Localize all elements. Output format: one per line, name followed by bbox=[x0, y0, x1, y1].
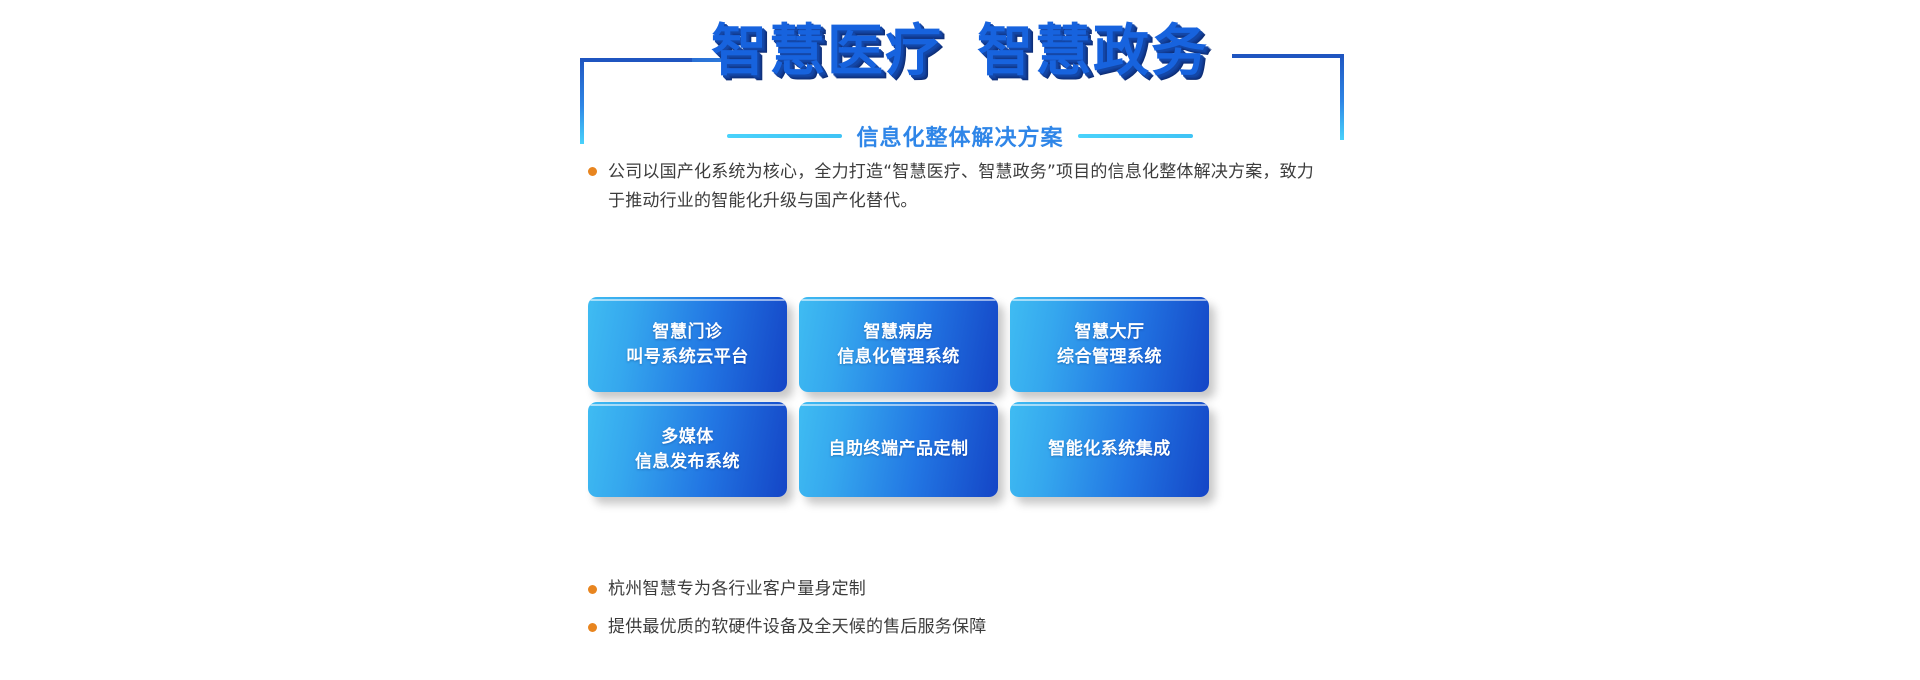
solution-card-grid: 智慧门诊 叫号系统云平台 智慧病房 信息化管理系统 智慧大厅 综合管理系统 多媒… bbox=[588, 297, 1208, 497]
solution-card[interactable]: 智慧大厅 综合管理系统 bbox=[1010, 297, 1209, 392]
solution-card-label: 智能化系统集成 bbox=[1042, 437, 1177, 462]
solution-card-label: 多媒体 信息发布系统 bbox=[629, 425, 746, 475]
subtitle-rule-right bbox=[1078, 134, 1193, 138]
solution-card-label: 智慧门诊 叫号系统云平台 bbox=[620, 320, 755, 370]
solution-card[interactable]: 多媒体 信息发布系统 bbox=[588, 402, 787, 497]
solution-card[interactable]: 智慧病房 信息化管理系统 bbox=[799, 297, 998, 392]
bullet-dot-icon bbox=[588, 585, 597, 594]
solution-card-label: 自助终端产品定制 bbox=[823, 437, 975, 462]
title-part-2: 智慧政务 bbox=[977, 20, 1209, 84]
solution-card[interactable]: 智慧门诊 叫号系统云平台 bbox=[588, 297, 787, 392]
solution-card[interactable]: 智能化系统集成 bbox=[1010, 402, 1209, 497]
intro-text: 公司以国产化系统为核心，全力打造“智慧医疗、智慧政务”项目的信息化整体解决方案，… bbox=[608, 158, 1328, 216]
page-title: 智慧医疗智慧政务 bbox=[580, 20, 1340, 84]
subtitle-rule-left bbox=[727, 134, 842, 138]
page-subtitle: 信息化整体解决方案 bbox=[856, 120, 1063, 152]
list-item: 提供最优质的软硬件设备及全天候的售后服务保障 bbox=[588, 608, 1348, 646]
solution-card[interactable]: 自助终端产品定制 bbox=[799, 402, 998, 497]
title-part-1: 智慧医疗 bbox=[711, 20, 943, 84]
footer-item-text: 杭州智慧专为各行业客户量身定制 bbox=[608, 577, 866, 601]
bullet-dot-icon bbox=[588, 623, 597, 632]
footer-bullet-list: 杭州智慧专为各行业客户量身定制 提供最优质的软硬件设备及全天候的售后服务保障 bbox=[588, 570, 1348, 646]
header-block: 智慧医疗智慧政务 信息化整体解决方案 bbox=[580, 20, 1340, 145]
footer-item-text: 提供最优质的软硬件设备及全天候的售后服务保障 bbox=[608, 615, 986, 639]
subtitle-row: 信息化整体解决方案 bbox=[580, 120, 1340, 152]
bullet-dot-icon bbox=[588, 167, 597, 176]
promo-banner: 智慧医疗智慧政务 信息化整体解决方案 公司以国产化系统为核心，全力打造“智慧医疗… bbox=[0, 0, 1920, 680]
solution-card-label: 智慧病房 信息化管理系统 bbox=[831, 320, 966, 370]
list-item: 杭州智慧专为各行业客户量身定制 bbox=[588, 570, 1348, 608]
intro-paragraph: 公司以国产化系统为核心，全力打造“智慧医疗、智慧政务”项目的信息化整体解决方案，… bbox=[588, 158, 1328, 216]
solution-card-label: 智慧大厅 综合管理系统 bbox=[1051, 320, 1168, 370]
